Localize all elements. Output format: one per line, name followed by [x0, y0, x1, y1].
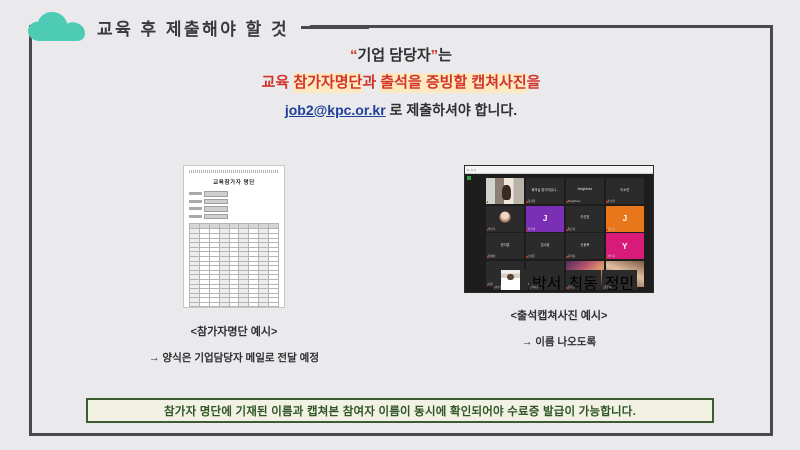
email-link[interactable]: job2@kpc.or.kr [285, 102, 386, 118]
intro-line-requirements: 교육 참가자명단과 출석을 증빙할 캡쳐사진을 [29, 75, 773, 91]
window-dot-icon [474, 169, 476, 171]
intro-highlight-attendee-list: 참가자명단 [293, 73, 362, 93]
open-quote: “ [350, 47, 358, 64]
participant-name: Neighbors [568, 200, 581, 203]
attendee-table-cell [239, 307, 249, 308]
doc-meta-key [189, 215, 202, 218]
participant-video [501, 270, 521, 290]
doc-meta-value [204, 191, 228, 197]
caption-sub-attendee-list: → 양식은 기업담당자 메일로 전달 예정 [124, 350, 344, 365]
participant-name: 김하늘 [568, 285, 575, 289]
participant-display-label: 회의실 참가자입니... [526, 178, 564, 200]
intro-subject: 기업 담당자 [358, 47, 431, 64]
zoom-participant-tile: Y배수지 [606, 233, 644, 259]
doc-title: 교육참가자 명단 [189, 178, 279, 186]
slide-header: 교육 후 제출해야 할 것 [28, 7, 369, 47]
intro-req-part1: 교육 [262, 74, 294, 91]
participant-display-label: 이선영 [566, 206, 604, 228]
zoom-filmstrip: 이수민박서준박서준최동주김하늘정민기장윤서 [493, 270, 637, 290]
attendee-list-thumbnail: 교육참가자 명단 [183, 165, 285, 308]
zoom-participant-tile: 한지훈한예슬 [486, 233, 524, 259]
participant-display-label: 임수정 [526, 233, 564, 255]
doc-meta-key [189, 207, 202, 210]
doc-meta-value [204, 199, 228, 205]
zoom-participant-tile: 이소연이소연 [606, 178, 644, 204]
intro-submission-rest: 로 제출하셔야 합니다. [386, 102, 517, 118]
participant-name: 박민수 [488, 227, 495, 231]
figure-attendee-list: 교육참가자 명단 <참가자명단 예시> → 양식은 기업담당자 메일로 전달 예… [124, 165, 344, 365]
doc-meta-key [189, 192, 202, 195]
zoom-participant-tile: 이수민 [493, 270, 528, 290]
window-dot-icon [471, 169, 473, 171]
participant-name: 최은지 [568, 227, 575, 231]
zoom-participant-tile: 홍길동 [486, 178, 524, 204]
participant-display-label: 신동욱 [566, 233, 604, 255]
doc-meta-value [204, 206, 228, 212]
participant-name: 한예슬 [488, 254, 495, 258]
participant-name: 박서준 [531, 285, 538, 289]
attendee-table-cell [229, 307, 239, 308]
doc-meta-value [204, 214, 228, 220]
cloud-icon [28, 12, 86, 42]
participant-name: 이소연 [608, 199, 615, 203]
notice-banner-text: 참가자 명단에 기재된 이름과 캡쳐본 참여자 이름이 동시에 확인되어야 수료… [164, 403, 636, 419]
attendee-table [189, 223, 279, 308]
zoom-meeting-screenshot: 홍길동회의실 참가자입니...김지영NeighborsNeighbors이소연이… [464, 165, 654, 293]
intro-highlight-capture: 출석을 증빙할 캡쳐사진 [380, 73, 526, 93]
doc-meta-row [189, 214, 279, 220]
participant-name: 이수민 [495, 285, 502, 289]
participant-display-label: 한지훈 [486, 233, 524, 255]
header-rule [301, 26, 369, 29]
zoom-participant-tile: J정우성 [526, 206, 564, 232]
zoom-participant-tile: 회의실 참가자입니...김지영 [526, 178, 564, 204]
attendee-table-cell [219, 307, 229, 308]
participant-name: 오세훈 [528, 254, 535, 258]
intro-particle: 는 [438, 47, 452, 64]
figures-row: 교육참가자 명단 <참가자명단 예시> → 양식은 기업담당자 메일로 전달 예… [29, 165, 773, 380]
attendee-table-cell [199, 307, 209, 308]
zoom-participant-tile: 신동욱윤아름 [566, 233, 604, 259]
participant-name: 장윤서 [604, 285, 611, 289]
notice-banner: 참가자 명단에 기재된 이름과 캡쳐본 참여자 이름이 동시에 확인되어야 수료… [86, 398, 714, 423]
attendee-table-row [190, 307, 279, 308]
participant-name: 김지영 [528, 199, 535, 203]
caption-title-attendee-list: <참가자명단 예시> [124, 323, 344, 339]
attendee-table-cell [269, 307, 279, 308]
participant-name: 배수지 [608, 254, 615, 258]
doc-headnote [189, 170, 279, 173]
recording-badge-icon [467, 176, 471, 180]
zoom-participant-tile: 박서준박서준 [529, 270, 564, 290]
intro-line-subject: “기업 담당자”는 [29, 48, 773, 64]
zoom-participant-tile: J강도윤 [606, 206, 644, 232]
participant-display-label: Neighbors [566, 178, 604, 200]
window-dot-icon [467, 169, 469, 171]
zoom-participant-tile: 박민수 [486, 206, 524, 232]
intro-line-submission: job2@kpc.or.kr 로 제출하셔야 합니다. [29, 103, 773, 118]
intro-req-part2: 과 [362, 74, 380, 91]
participant-name: 강도윤 [608, 227, 615, 231]
attendee-table-cell [190, 307, 200, 308]
doc-meta-key [189, 200, 202, 203]
participant-name: 정우성 [528, 227, 535, 231]
doc-meta-row [189, 199, 279, 205]
zoom-participant-tile: 정민기장윤서 [602, 270, 637, 290]
zoom-participant-tile: 이선영최은지 [566, 206, 604, 232]
attendee-table-cell [209, 307, 219, 308]
intro-block: “기업 담당자”는 교육 참가자명단과 출석을 증빙할 캡쳐사진을 job2@k… [29, 48, 773, 117]
attendee-table-cell [249, 307, 259, 308]
intro-req-part3: 을 [527, 74, 541, 91]
zoom-window-titlebar [465, 166, 653, 174]
participant-name: 홍길동 [488, 199, 495, 203]
zoom-participant-tile: 최동주김하늘 [566, 270, 601, 290]
zoom-gallery-stage: 홍길동회의실 참가자입니...김지영NeighborsNeighbors이소연이… [465, 174, 653, 292]
doc-meta-row [189, 191, 279, 197]
doc-meta-row [189, 206, 279, 212]
caption-sub-capture: → 이름 나오도록 [419, 334, 699, 349]
participant-display-label: 이소연 [606, 178, 644, 200]
zoom-participant-tile: NeighborsNeighbors [566, 178, 604, 204]
avatar [500, 211, 511, 222]
caption-title-capture: <출석캡쳐사진 예시> [419, 307, 699, 323]
page-title: 교육 후 제출해야 할 것 [97, 15, 289, 40]
attendee-table-cell [259, 307, 269, 308]
participant-name: 윤아름 [568, 254, 575, 258]
zoom-participant-tile: 임수정오세훈 [526, 233, 564, 259]
figure-attendance-capture: 홍길동회의실 참가자입니...김지영NeighborsNeighbors이소연이… [419, 165, 699, 349]
